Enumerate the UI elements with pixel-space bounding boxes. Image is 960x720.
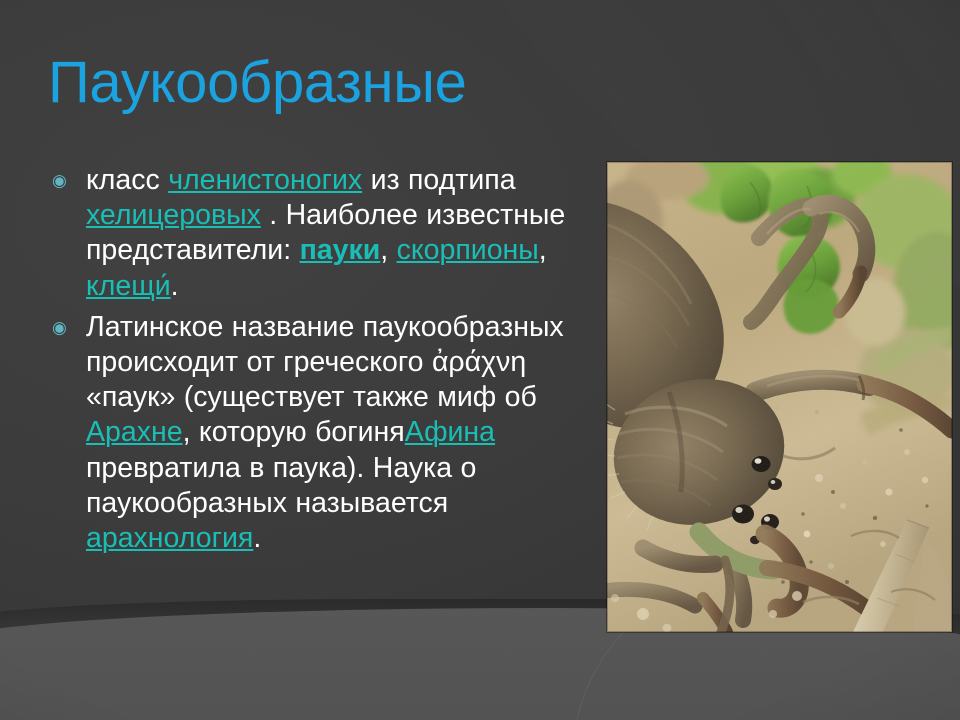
spider-photo-illustration [607,162,952,632]
hyperlink[interactable]: скорпионы [397,234,539,266]
hyperlink[interactable]: пауки [300,234,381,266]
bullet-marker-icon: ◉ [52,310,86,336]
hyperlink[interactable]: Арахне [86,416,183,448]
bullet-marker-icon: ◉ [52,163,86,189]
hyperlink[interactable]: Афина [405,416,495,448]
slide-body: ◉ класс членистоногих из подтипа хелицер… [52,163,597,562]
bullet-text-1: класс членистоногих из подтипа хелицеров… [86,163,597,304]
hyperlink[interactable]: арахнология [86,522,253,554]
bullet-text-2: Латинское название паукообразных происхо… [86,310,597,556]
presentation-slide: Паукообразные ◉ класс членистоногих из п… [0,0,960,720]
hyperlink[interactable]: клещи́ [86,270,171,302]
wolf-spider-photo [607,162,952,632]
hyperlink[interactable]: хелицеровых [86,199,261,231]
bullet-item-1: ◉ класс членистоногих из подтипа хелицер… [52,163,597,304]
bullet-item-2: ◉ Латинское название паукообразных проис… [52,310,597,556]
slide-title: Паукообразные [48,52,648,115]
hyperlink[interactable]: членистоногих [168,164,362,196]
